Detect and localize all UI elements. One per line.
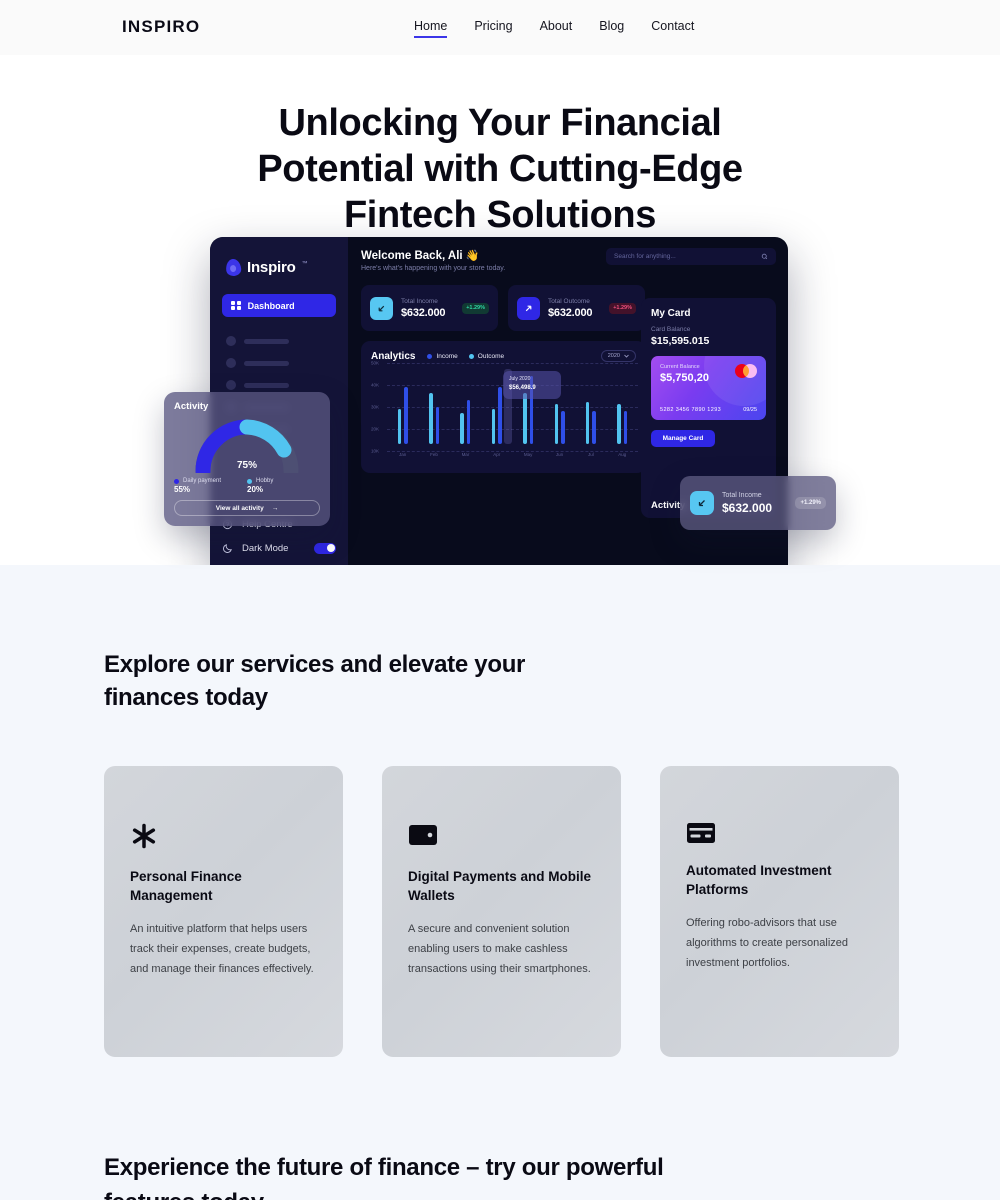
chart-bar xyxy=(555,404,559,444)
service-card-digital-payments[interactable]: Digital Payments and Mobile Wallets A se… xyxy=(382,766,621,1057)
chart-bar-group xyxy=(418,369,449,457)
legend-label: Income xyxy=(436,353,457,360)
card-expiry: 09/25 xyxy=(743,407,757,413)
chart-gridline xyxy=(387,363,638,364)
arrow-down-left-icon xyxy=(370,297,393,320)
search-icon xyxy=(761,253,768,260)
service-card-text: Offering robo-advisors that use algorith… xyxy=(686,913,873,973)
floating-income-label: Total Income xyxy=(722,492,772,499)
navbar: INSPIRO Home Pricing About Blog Contact xyxy=(0,0,1000,55)
stat-label: Total Income xyxy=(401,298,445,305)
circle-icon xyxy=(226,358,236,368)
wave-hand-icon: 👋 xyxy=(466,250,480,262)
services-cards: Personal Finance Management An intuitive… xyxy=(104,766,899,1057)
chart-y-tick: 30K xyxy=(371,405,379,410)
chart-bar-group xyxy=(450,369,481,457)
legend-swatch xyxy=(174,479,179,484)
credit-card-visual: Current Balance $5,750,20 5282 3456 7890… xyxy=(651,356,766,420)
stat-value: $632.000 xyxy=(401,307,445,319)
arrow-right-icon: → xyxy=(272,505,279,512)
chart-bar xyxy=(429,393,433,444)
floating-income-value: $632.000 xyxy=(722,501,772,515)
grid-icon xyxy=(231,301,241,311)
sidebar-item-placeholder[interactable] xyxy=(222,330,336,352)
features-title: Experience the future of finance – try o… xyxy=(104,1150,664,1200)
floating-total-income-card: Total Income $632.000 +1.29% xyxy=(680,476,836,530)
activity-legend-item-daily-payment: Daily payment 55% xyxy=(174,478,247,494)
chart-bar xyxy=(460,413,464,444)
page-root: INSPIRO Home Pricing About Blog Contact … xyxy=(0,0,1000,1200)
chart-y-tick: 10K xyxy=(371,449,379,454)
chart-x-tick: Jun xyxy=(544,452,575,457)
floating-activity-title: Activity xyxy=(174,401,208,412)
chart-bar xyxy=(467,400,471,444)
chart-bar xyxy=(624,411,628,444)
chart-y-tick: 40K xyxy=(371,383,379,388)
legend-value: 20% xyxy=(247,485,320,494)
nav-link-blog[interactable]: Blog xyxy=(599,19,624,38)
legend-item-outcome: Outcome xyxy=(469,353,504,360)
chart-bar xyxy=(523,393,527,444)
nav-link-contact[interactable]: Contact xyxy=(651,19,694,38)
mastercard-logo-icon xyxy=(735,364,757,378)
service-card-title: Personal Finance Management xyxy=(130,867,317,905)
sidebar-item-placeholder[interactable] xyxy=(222,352,336,374)
dashboard-logo-text: Inspiro xyxy=(247,259,296,276)
floating-income-delta-badge: +1.29% xyxy=(795,497,826,509)
stat-card-total-income: Total Income $632.000 +1.29% xyxy=(361,285,498,331)
legend-swatch xyxy=(247,479,252,484)
chart-x-tick: Feb xyxy=(418,452,449,457)
legend-item-income: Income xyxy=(427,353,457,360)
chart-bar xyxy=(436,407,440,444)
view-all-activity-button[interactable]: View all activity → xyxy=(174,500,320,516)
sidebar-item-dashboard[interactable]: Dashboard xyxy=(222,294,336,317)
chart-bar xyxy=(617,404,621,444)
placeholder-label xyxy=(244,339,289,344)
service-card-personal-finance[interactable]: Personal Finance Management An intuitive… xyxy=(104,766,343,1057)
circle-icon xyxy=(226,336,236,346)
nav-link-about[interactable]: About xyxy=(540,19,573,38)
chart-x-tick: Jul xyxy=(575,452,606,457)
dashboard-logo: Inspiro ™ xyxy=(226,259,336,276)
chart-y-tick: 20K xyxy=(371,427,379,432)
floating-activity-header: Activity xyxy=(174,401,320,412)
activity-legend: Daily payment 55% Hobby 20% xyxy=(174,478,320,494)
chart-tooltip: July 2020 $56,498.9 xyxy=(503,371,561,399)
service-card-text: A secure and convenient solution enablin… xyxy=(408,919,595,979)
nav-links: Home Pricing About Blog Contact xyxy=(414,19,694,38)
chart-x-tick: May xyxy=(513,452,544,457)
chart-bar xyxy=(561,411,565,444)
welcome-text: Welcome Back, Ali xyxy=(361,250,463,262)
placeholder-label xyxy=(244,383,289,388)
chart-x-tick: Apr xyxy=(481,452,512,457)
search-input[interactable]: Search for anything... xyxy=(606,248,776,265)
chart-x-tick: Jan xyxy=(387,452,418,457)
year-select[interactable]: 2020 xyxy=(601,350,636,362)
credit-card-icon xyxy=(686,822,716,849)
flame-icon xyxy=(225,258,242,276)
sidebar-item-dark-mode[interactable]: Dark Mode xyxy=(222,536,336,560)
credit-card-footer: 5282 3456 7890 1293 09/25 xyxy=(660,407,757,413)
nav-link-home[interactable]: Home xyxy=(414,19,447,38)
chart-legend: Income Outcome xyxy=(427,353,504,360)
asterisk-icon xyxy=(130,822,158,855)
my-card-title: My Card xyxy=(651,308,766,319)
services-section: Explore our services and elevate your fi… xyxy=(0,565,1000,1200)
activity-percent: 75% xyxy=(237,460,257,471)
chart-bar-group xyxy=(607,369,638,457)
card-number: 5282 3456 7890 1293 xyxy=(660,407,721,413)
arrow-up-right-icon xyxy=(517,297,540,320)
service-card-title: Digital Payments and Mobile Wallets xyxy=(408,867,595,905)
chart-bar xyxy=(586,402,590,444)
dark-mode-label: Dark Mode xyxy=(242,543,288,554)
service-card-text: An intuitive platform that helps users t… xyxy=(130,919,317,979)
tooltip-value: $56,498.9 xyxy=(509,385,555,391)
tooltip-title: July 2020 xyxy=(509,376,555,382)
legend-label: Outcome xyxy=(478,353,504,360)
stat-delta-badge: +1.29% xyxy=(609,303,636,314)
legend-label: Hobby xyxy=(256,478,273,484)
chart-x-axis: JanFebMarAprMayJunJulAug xyxy=(387,452,638,457)
dark-mode-toggle[interactable] xyxy=(314,543,336,554)
arrow-down-left-icon xyxy=(690,491,714,515)
hero-title: Unlocking Your Financial Potential with … xyxy=(250,100,750,238)
activity-gauge-chart: 75% xyxy=(195,419,299,473)
card-balance-value: $15,595.015 xyxy=(651,335,766,347)
chart-bar-group xyxy=(387,369,418,457)
stat-delta-badge: +1.29% xyxy=(462,303,489,314)
chart-bar-group xyxy=(575,369,606,457)
moon-icon xyxy=(222,543,233,554)
legend-swatch xyxy=(427,354,432,359)
brand-logo[interactable]: INSPIRO xyxy=(122,17,200,37)
year-select-value: 2020 xyxy=(608,353,620,359)
chart-x-tick: Mar xyxy=(450,452,481,457)
chart-bar xyxy=(398,409,402,444)
chart-bar xyxy=(498,387,502,444)
service-card-automated-investment[interactable]: Automated Investment Platforms Offering … xyxy=(660,766,899,1057)
nav-link-pricing[interactable]: Pricing xyxy=(474,19,512,38)
chart-bar xyxy=(404,387,408,444)
chart-x-tick: Aug xyxy=(607,452,638,457)
services-title: Explore our services and elevate your fi… xyxy=(104,648,584,714)
manage-card-button[interactable]: Manage Card xyxy=(651,430,715,447)
analytics-header: Analytics Income Outcome 2020 xyxy=(371,350,636,362)
sidebar-item-dashboard-label: Dashboard xyxy=(248,301,295,311)
legend-label: Daily payment xyxy=(183,478,221,484)
chart-y-axis: 10K20K30K40K50K xyxy=(371,369,385,457)
chart-bar xyxy=(592,411,596,444)
welcome-subtitle: Here's what's happening with your store … xyxy=(361,265,776,272)
search-placeholder: Search for anything... xyxy=(614,253,676,260)
activity-legend-item-hobby: Hobby 20% xyxy=(247,478,320,494)
analytics-panel: Analytics Income Outcome 2020 10K20K30K4… xyxy=(361,341,646,473)
circle-icon xyxy=(226,380,236,390)
floating-activity-card: Activity 75% Daily payment 55% Hobby 20%… xyxy=(164,392,330,526)
wallet-icon xyxy=(408,822,438,853)
placeholder-label xyxy=(244,361,289,366)
card-balance-label: Card Balance xyxy=(651,326,766,333)
stat-label: Total Outcome xyxy=(548,298,592,305)
legend-swatch xyxy=(469,354,474,359)
stat-card-total-outcome: Total Outcome $632.000 +1.29% xyxy=(508,285,645,331)
view-all-activity-label: View all activity xyxy=(216,505,264,512)
chart-bar xyxy=(492,409,496,444)
trademark-mark: ™ xyxy=(302,261,308,267)
chart-y-tick: 50K xyxy=(371,361,379,366)
stat-value: $632.000 xyxy=(548,307,592,319)
chevron-down-icon xyxy=(624,354,629,358)
service-card-title: Automated Investment Platforms xyxy=(686,861,873,899)
legend-value: 55% xyxy=(174,485,247,494)
